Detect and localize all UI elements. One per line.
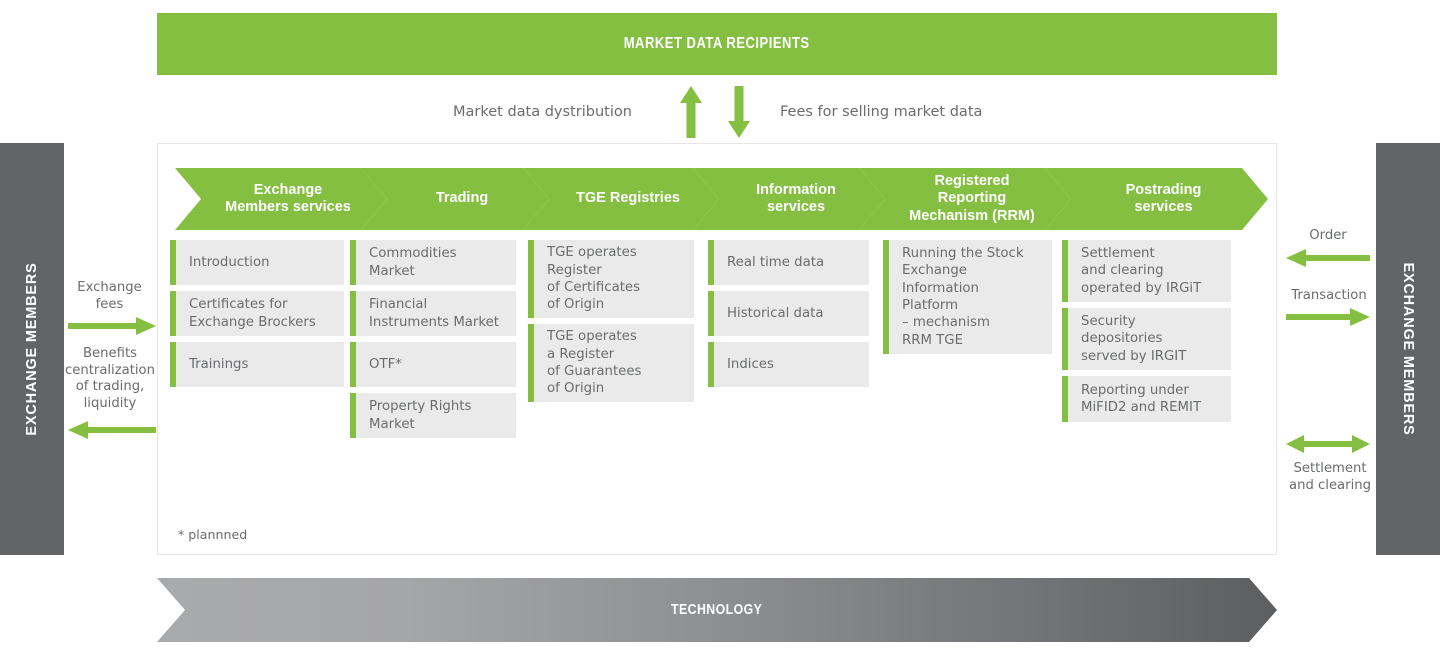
list-item[interactable]: Security depositories served by IRGIT bbox=[1062, 308, 1231, 370]
list-item[interactable]: Reporting under MiFID2 and REMIT bbox=[1062, 376, 1231, 422]
list-item-label: Commodities Market bbox=[356, 238, 465, 287]
exchange-members-left-label: EXCHANGE MEMBERS bbox=[24, 262, 40, 435]
chevron-registered-reporting-mechanism[interactable]: Registered Reporting Mechanism (RRM) bbox=[859, 168, 1071, 230]
column-postrading-services: Settlement and clearing operated by IRGi… bbox=[1062, 240, 1231, 428]
exchange-fees-label: Exchange fees bbox=[63, 280, 156, 313]
market-data-recipients-banner: MARKET DATA RECIPIENTS bbox=[157, 13, 1277, 75]
list-item[interactable]: Real time data bbox=[708, 240, 869, 285]
list-item[interactable]: Running the Stock Exchange Information P… bbox=[883, 240, 1052, 354]
column-registered-reporting-mechanism: Running the Stock Exchange Information P… bbox=[883, 240, 1052, 360]
transaction-label: Transaction bbox=[1283, 288, 1375, 305]
list-item[interactable]: OTF* bbox=[350, 342, 516, 387]
arrow-right-icon bbox=[1286, 307, 1370, 327]
list-item[interactable]: Commodities Market bbox=[350, 240, 516, 285]
arrow-down-icon bbox=[726, 86, 752, 138]
list-item-label: Trainings bbox=[176, 349, 256, 380]
exchange-members-right-sidebar: EXCHANGE MEMBERS bbox=[1376, 143, 1440, 555]
chevron-label: Trading bbox=[416, 190, 494, 207]
arrow-right-icon bbox=[68, 316, 156, 336]
list-item[interactable]: Historical data bbox=[708, 291, 869, 336]
list-item[interactable]: Property Rights Market bbox=[350, 393, 516, 438]
list-item-label: OTF* bbox=[356, 349, 410, 380]
chevron-label: TGE Registries bbox=[556, 190, 686, 207]
list-item[interactable]: Financial Instruments Market bbox=[350, 291, 516, 336]
list-item-label: Security depositories served by IRGIT bbox=[1068, 306, 1194, 372]
list-item-label: Running the Stock Exchange Information P… bbox=[889, 238, 1032, 356]
list-item-label: Indices bbox=[714, 349, 782, 380]
chevron-postrading-services[interactable]: Postrading services bbox=[1045, 168, 1268, 230]
list-item-label: Settlement and clearing operated by IRGi… bbox=[1068, 238, 1209, 304]
chevron-label: Registered Reporting Mechanism (RRM) bbox=[889, 173, 1041, 224]
list-item[interactable]: TGE operates a Register of Guarantees of… bbox=[528, 324, 694, 402]
arrow-up-icon bbox=[678, 86, 704, 138]
chevron-label: Exchange Members services bbox=[205, 182, 357, 216]
column-trading: Commodities Market Financial Instruments… bbox=[350, 240, 516, 444]
order-label: Order bbox=[1286, 228, 1370, 245]
technology-bar: TECHNOLOGY bbox=[157, 578, 1277, 642]
list-item-label: Property Rights Market bbox=[356, 391, 479, 440]
list-item-label: TGE operates a Register of Guarantees of… bbox=[534, 321, 649, 404]
list-item[interactable]: TGE operates Register of Certificates of… bbox=[528, 240, 694, 318]
benefits-centralization-label: Benefits centralization of trading, liqu… bbox=[55, 346, 165, 412]
list-item[interactable]: Trainings bbox=[170, 342, 344, 387]
footnote-planned: * plannned bbox=[178, 527, 247, 542]
service-item-columns: Introduction Certificates for Exchange B… bbox=[170, 240, 1266, 510]
column-tge-registries: TGE operates Register of Certificates of… bbox=[528, 240, 694, 408]
list-item-label: Real time data bbox=[714, 247, 832, 278]
technology-label: TECHNOLOGY bbox=[671, 602, 762, 618]
chevron-label: Information services bbox=[736, 182, 842, 216]
list-item-label: Reporting under MiFID2 and REMIT bbox=[1068, 375, 1209, 424]
market-data-recipients-label: MARKET DATA RECIPIENTS bbox=[624, 35, 810, 53]
chevron-label: Postrading services bbox=[1106, 182, 1208, 216]
chevron-trading[interactable]: Trading bbox=[361, 168, 549, 230]
chevron-tge-registries[interactable]: TGE Registries bbox=[523, 168, 719, 230]
fees-for-selling-market-data-label: Fees for selling market data bbox=[780, 104, 982, 120]
arrow-both-icon bbox=[1286, 434, 1370, 454]
service-category-chevrons: Exchange Members services Trading TGE Re… bbox=[175, 168, 1268, 230]
list-item[interactable]: Introduction bbox=[170, 240, 344, 285]
market-data-distribution-label: Market data dystribution bbox=[453, 104, 632, 120]
list-item[interactable]: Indices bbox=[708, 342, 869, 387]
list-item-label: Historical data bbox=[714, 298, 831, 329]
exchange-members-right-label: EXCHANGE MEMBERS bbox=[1400, 262, 1416, 435]
list-item[interactable]: Certificates for Exchange Brockers bbox=[170, 291, 344, 336]
list-item-label: Introduction bbox=[176, 247, 278, 278]
list-item-label: Certificates for Exchange Brockers bbox=[176, 289, 324, 338]
arrow-left-icon bbox=[68, 420, 156, 440]
chevron-exchange-members-services[interactable]: Exchange Members services bbox=[175, 168, 387, 230]
column-exchange-members-services: Introduction Certificates for Exchange B… bbox=[170, 240, 344, 393]
chevron-information-services[interactable]: Information services bbox=[693, 168, 885, 230]
list-item-label: Financial Instruments Market bbox=[356, 289, 507, 338]
settlement-and-clearing-label: Settlement and clearing bbox=[1280, 461, 1380, 494]
arrow-left-icon bbox=[1286, 248, 1370, 268]
column-information-services: Real time data Historical data Indices bbox=[708, 240, 869, 393]
services-panel: Exchange Members services Trading TGE Re… bbox=[157, 143, 1277, 555]
list-item-label: TGE operates Register of Certificates of… bbox=[534, 237, 648, 320]
list-item[interactable]: Settlement and clearing operated by IRGi… bbox=[1062, 240, 1231, 302]
